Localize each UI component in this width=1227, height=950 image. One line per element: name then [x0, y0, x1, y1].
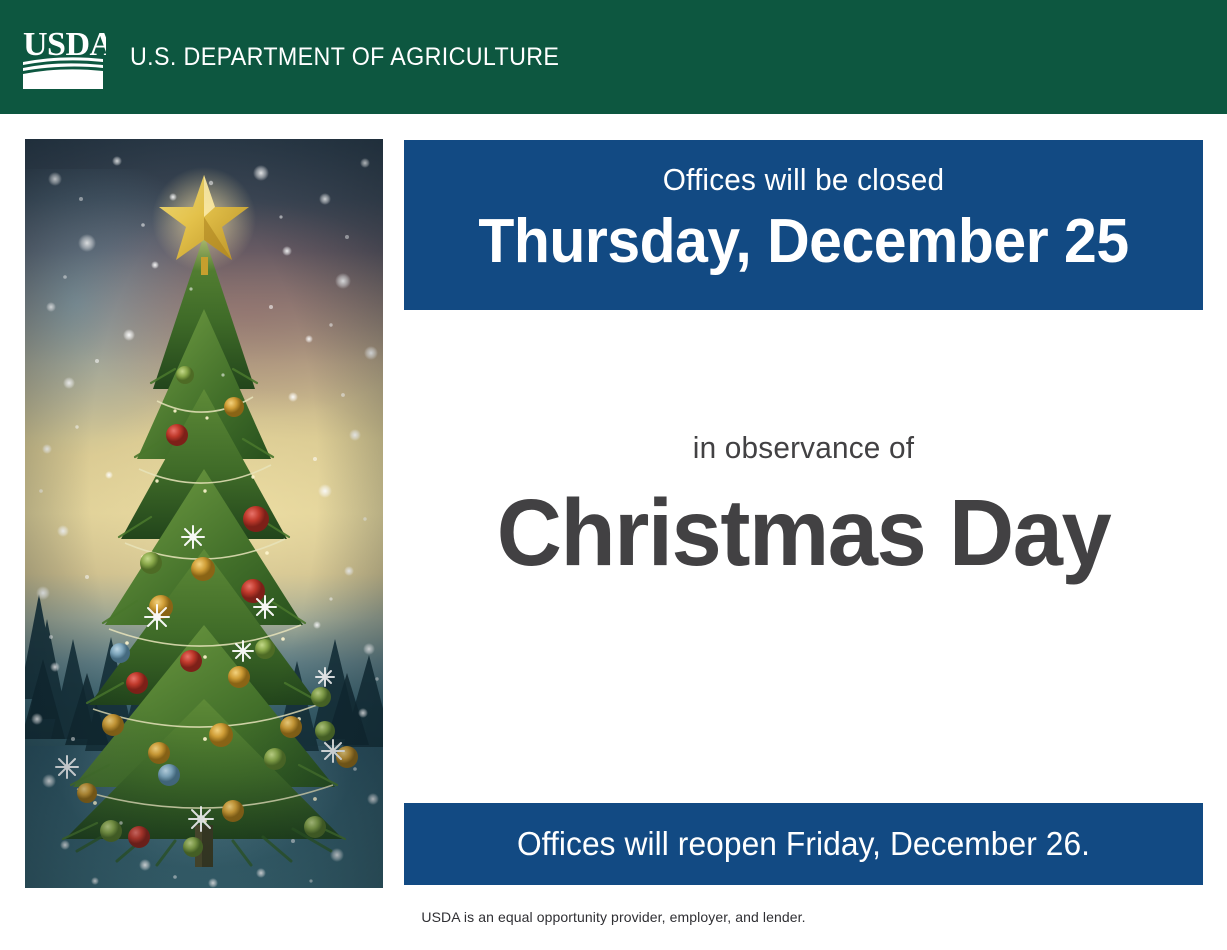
- christmas-tree-photo: [25, 139, 383, 888]
- observance-block: in observance of Christmas Day: [404, 430, 1203, 584]
- reopen-banner-text: Offices will reopen Friday, December 26.: [517, 825, 1090, 863]
- notice-right-column: Offices will be closed Thursday, Decembe…: [404, 114, 1203, 950]
- closure-banner-date: Thursday, December 25: [424, 206, 1183, 277]
- usda-header: USDA U.S. DEPARTMENT OF AGRICULTURE: [0, 0, 1227, 114]
- equal-opportunity-note: USDA is an equal opportunity provider, e…: [0, 909, 1227, 925]
- observance-lead: in observance of: [420, 430, 1187, 466]
- reopen-banner: Offices will reopen Friday, December 26.: [404, 803, 1203, 885]
- closure-banner-lead: Offices will be closed: [420, 162, 1187, 198]
- closure-banner: Offices will be closed Thursday, Decembe…: [404, 140, 1203, 310]
- usda-header-title: U.S. DEPARTMENT OF AGRICULTURE: [130, 43, 559, 72]
- photo-artwork: [25, 139, 383, 888]
- notice-body: Offices will be closed Thursday, Decembe…: [0, 114, 1227, 950]
- observance-holiday-name: Christmas Day: [424, 484, 1183, 584]
- usda-logo-icon: USDA: [22, 24, 106, 90]
